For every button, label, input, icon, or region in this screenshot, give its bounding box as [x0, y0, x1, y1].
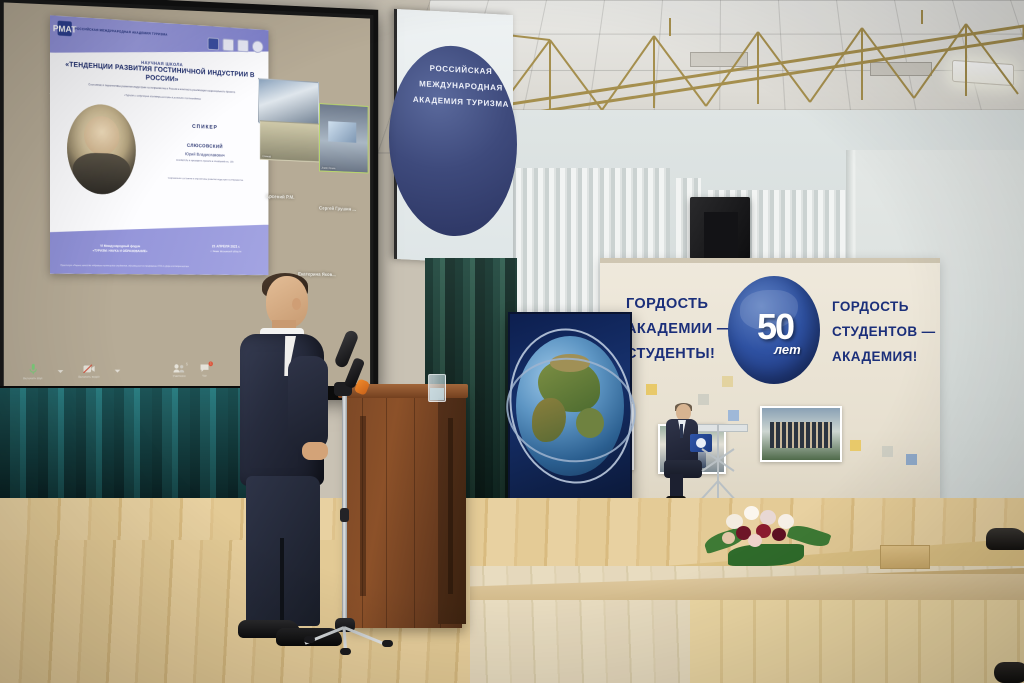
chevron-up-icon[interactable]: [114, 369, 120, 372]
tripod-foot: [382, 640, 393, 647]
academy-sign-panel: РОССИЙСКАЯ МЕЖДУНАРОДНАЯ АКАДЕМИЯ ТУРИЗМ…: [394, 9, 513, 265]
chat-badge: 1: [209, 361, 213, 366]
foreground-shoe: [986, 528, 1024, 550]
mute-button[interactable]: Включить звук: [23, 363, 42, 380]
banner-text-left: ГОРДОСТЬ АКАДЕМИИ — СТУДЕНТЫ!: [626, 292, 732, 367]
tripod-leg: [343, 626, 385, 645]
microphone-on-stand: [318, 330, 408, 646]
seated-tie: [680, 424, 683, 438]
banner-right-line2: СТУДЕНТОВ —: [832, 319, 936, 344]
flower: [744, 506, 759, 520]
anniversary-banner: ГОРДОСТЬ АКАДЕМИИ — СТУДЕНТЫ! 50 лет ГОР…: [600, 258, 940, 502]
water-level: [430, 388, 444, 400]
participants-button[interactable]: 5 Участники: [173, 363, 186, 377]
slide-speaker-role: основатель и президент, проекта и основа…: [147, 158, 262, 165]
conference-hall-photo: РОССИЙСКАЯ МЕЖДУНАРОДНАЯ АКАДЕМИЯ ТУРИЗМ…: [0, 0, 1024, 683]
decor-square: [906, 454, 917, 465]
academy-sign-text: РОССИЙСКАЯ МЕЖДУНАРОДНАЯ АКАДЕМИЯ ТУРИЗМ…: [405, 59, 517, 113]
slide-date-block: 21 АПРЕЛЯ 2021 г. г. Химки Московской об…: [192, 244, 260, 254]
tripod-foot: [340, 648, 351, 655]
decor-square: [728, 410, 739, 421]
banner-top-edge: [600, 258, 940, 263]
banner-left-line2: АКАДЕМИИ —: [626, 317, 732, 342]
chat-button[interactable]: 1 Чат: [200, 363, 210, 377]
video-tile: [258, 78, 319, 126]
video-tile-name: Спикер: [262, 154, 271, 158]
chevron-up-icon[interactable]: [58, 370, 64, 373]
decor-square: [882, 446, 893, 457]
banner-text-right: ГОРДОСТЬ СТУДЕНТОВ — АКАДЕМИЯ!: [832, 294, 936, 369]
decor-square: [646, 384, 657, 395]
presenter-leg-separation: [280, 538, 284, 626]
foreground-shoe: [994, 662, 1024, 683]
table-microphone-stand: [692, 425, 744, 503]
presentation-slide: РМАТ РОССИЙСКАЯ МЕЖДУНАРОДНАЯ АКАДЕМИЯ Т…: [50, 15, 268, 275]
participants-label: Участники: [173, 373, 186, 377]
flower: [778, 514, 794, 529]
video-tile: Спикер: [260, 120, 319, 162]
speaker-portrait: [67, 103, 136, 195]
foliage: [728, 544, 804, 566]
floor-strip: [690, 600, 1024, 683]
tripod-foot: [304, 636, 315, 643]
presenter-ear: [292, 298, 301, 310]
participant-name: Сергей Грушин ...: [319, 206, 356, 213]
globe-artwork-board: [508, 312, 632, 512]
video-tile-active: Zoom Room: [319, 103, 368, 173]
zoom-toolbar[interactable]: Включить звук Включить видео 5 Участники: [23, 357, 251, 384]
slide-subtitle-secondary: «Туризм и индустрия гостеприимства» в ус…: [78, 92, 244, 104]
banner-photo: [760, 406, 842, 462]
loudspeaker-body: [704, 212, 738, 260]
decor-square: [850, 440, 861, 451]
banner-globe-icon: 50 лет: [728, 276, 820, 384]
slide-place: г. Химки Московской области: [192, 249, 260, 255]
partner-logo-1: [208, 37, 219, 50]
start-video-button[interactable]: Включить видео: [78, 363, 99, 378]
slide-forum-title: VI Международный форум «ТУРИЗМ: НАУКА И …: [59, 243, 179, 253]
water-glass: [428, 374, 446, 402]
flower: [760, 510, 776, 525]
participants-count: 5: [186, 362, 188, 366]
partner-logo-4: [252, 40, 263, 53]
mute-label: Включить звук: [23, 376, 42, 380]
chat-label: Чат: [202, 373, 206, 377]
floral-arrangement: [704, 498, 828, 572]
banner-right-line1: ГОРДОСТЬ: [832, 294, 936, 319]
partner-logo-3: [237, 39, 248, 52]
mic-height-adjust-knob[interactable]: [340, 508, 349, 522]
video-label: Включить видео: [78, 374, 99, 378]
slide-speaker-note: Современное состояние и перспективы разв…: [152, 176, 258, 182]
slide-speaker-label: СПИКЕР: [147, 122, 262, 133]
flower: [748, 534, 762, 547]
rimat-logo-mark: РМАТ: [58, 21, 72, 37]
flower: [722, 532, 735, 544]
anniversary-word: лет: [774, 342, 801, 357]
decor-square: [722, 376, 733, 387]
flower-dark: [772, 528, 786, 541]
rimat-logo-text: РОССИЙСКАЯ МЕЖДУНАРОДНАЯ АКАДЕМИЯ ТУРИЗМ…: [75, 27, 168, 37]
banner-right-line3: АКАДЕМИЯ!: [832, 344, 936, 369]
banner-left-line1: ГОРДОСТЬ: [626, 292, 732, 317]
podium-groove: [448, 418, 453, 594]
banner-left-line3: СТУДЕНТЫ!: [626, 342, 732, 367]
video-tile-name: Zoom Room: [322, 166, 336, 170]
participant-name: Арсений Р.М.: [266, 194, 295, 201]
step-block: [880, 545, 930, 569]
partner-logo-2: [223, 38, 234, 51]
